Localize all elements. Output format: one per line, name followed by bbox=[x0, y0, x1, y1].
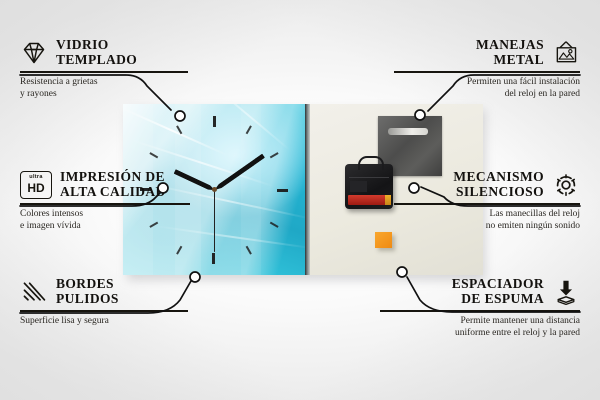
feature-divider bbox=[394, 71, 580, 73]
feature-bordes-pulidos: BORDES PULIDOS Superficie lisa y segura bbox=[20, 277, 206, 327]
feature-title-line1: MANEJAS bbox=[476, 38, 544, 53]
feature-divider bbox=[380, 310, 580, 312]
feature-description-line2: no emiten ningún sonido bbox=[486, 221, 580, 231]
feature-title-line2: DE ESPUMA bbox=[452, 292, 544, 307]
mechanism-label bbox=[350, 181, 367, 192]
hanger-slot bbox=[388, 128, 428, 135]
infographic-canvas: VIDRIO TEMPLADO Resistencia a grietas y … bbox=[0, 0, 600, 400]
feature-description-line2: e imagen vívida bbox=[20, 221, 81, 231]
feature-title: IMPRESIÓN DE ALTA CALIDAD bbox=[60, 170, 166, 199]
feature-title: ESPACIADOR DE ESPUMA bbox=[452, 277, 544, 306]
battery bbox=[348, 195, 390, 205]
foam-spacer bbox=[375, 232, 392, 248]
feature-divider bbox=[20, 71, 188, 73]
feature-manejas-metal: MANEJAS METAL Permiten una fácil instala… bbox=[394, 38, 580, 101]
feature-title-line1: MECANISMO bbox=[453, 170, 544, 185]
feature-espaciador-espuma: ESPACIADOR DE ESPUMA Permite mantener un… bbox=[380, 277, 580, 340]
feature-description-line1: Superficie lisa y segura bbox=[20, 316, 109, 326]
feature-description-line2: y rayones bbox=[20, 89, 57, 99]
feature-description-line1: Colores intensos bbox=[20, 209, 83, 219]
feature-description: Permite mantener una distancia uniforme … bbox=[380, 315, 580, 340]
feature-title-line2: TEMPLADO bbox=[56, 53, 137, 68]
polished-edges-icon bbox=[20, 279, 48, 305]
feature-title-line1: ESPACIADOR bbox=[452, 277, 544, 292]
feature-description-line2: uniforme entre el reloj y la pared bbox=[455, 328, 580, 338]
feature-title-line2: PULIDOS bbox=[56, 292, 119, 307]
feature-title-line2: METAL bbox=[476, 53, 544, 68]
feature-title-line2: ALTA CALIDAD bbox=[60, 185, 166, 200]
feature-title: VIDRIO TEMPLADO bbox=[56, 38, 137, 67]
feature-divider bbox=[394, 203, 580, 205]
feature-description: Colores intensos e imagen vívida bbox=[20, 208, 210, 233]
feature-title-line1: VIDRIO bbox=[56, 38, 137, 53]
mechanism-seam bbox=[349, 177, 389, 178]
feature-description: Resistencia a grietas y rayones bbox=[20, 76, 206, 101]
picture-hanger-icon bbox=[552, 40, 580, 66]
feature-description-line2: del reloj en la pared bbox=[505, 89, 580, 99]
clock-tick bbox=[214, 189, 288, 191]
feature-description-line1: Permiten una fácil instalación bbox=[467, 77, 580, 87]
feature-impresion-alta-calidad: ultra HD IMPRESIÓN DE ALTA CALIDAD Color… bbox=[20, 170, 210, 233]
feature-title: BORDES PULIDOS bbox=[56, 277, 119, 306]
mechanism-hanging-loop bbox=[358, 156, 384, 170]
clock-mechanism bbox=[345, 164, 393, 209]
clock-center-cap bbox=[212, 187, 217, 192]
feature-description: Permiten una fácil instalación del reloj… bbox=[394, 76, 580, 101]
feature-title-line1: IMPRESIÓN DE bbox=[60, 170, 166, 185]
feature-title: MECANISMO SILENCIOSO bbox=[453, 170, 544, 199]
ultra-hd-icon-top-label: ultra bbox=[29, 175, 42, 181]
clock-tick bbox=[213, 116, 215, 190]
feature-description: Superficie lisa y segura bbox=[20, 315, 206, 328]
feature-title-line1: BORDES bbox=[56, 277, 119, 292]
ultra-hd-icon: ultra HD bbox=[20, 171, 52, 199]
ultra-hd-icon-main-label: HD bbox=[27, 182, 44, 194]
foam-spacer-icon bbox=[552, 279, 580, 305]
feature-mecanismo-silencioso: MECANISMO SILENCIOSO Las manecillas del … bbox=[394, 170, 580, 233]
gear-icon bbox=[552, 172, 580, 198]
clock-second-hand bbox=[214, 190, 215, 252]
feature-description-line1: Permite mantener una distancia bbox=[461, 316, 581, 326]
feature-vidrio-templado: VIDRIO TEMPLADO Resistencia a grietas y … bbox=[20, 38, 206, 101]
feature-description-line1: Resistencia a grietas bbox=[20, 77, 98, 87]
feature-title: MANEJAS METAL bbox=[476, 38, 544, 67]
feature-description-line1: Las manecillas del reloj bbox=[490, 209, 580, 219]
feature-title-line2: SILENCIOSO bbox=[453, 185, 544, 200]
feature-divider bbox=[20, 203, 190, 205]
diamond-icon bbox=[20, 40, 48, 66]
feature-divider bbox=[20, 310, 188, 312]
feature-description: Las manecillas del reloj no emiten ningú… bbox=[394, 208, 580, 233]
